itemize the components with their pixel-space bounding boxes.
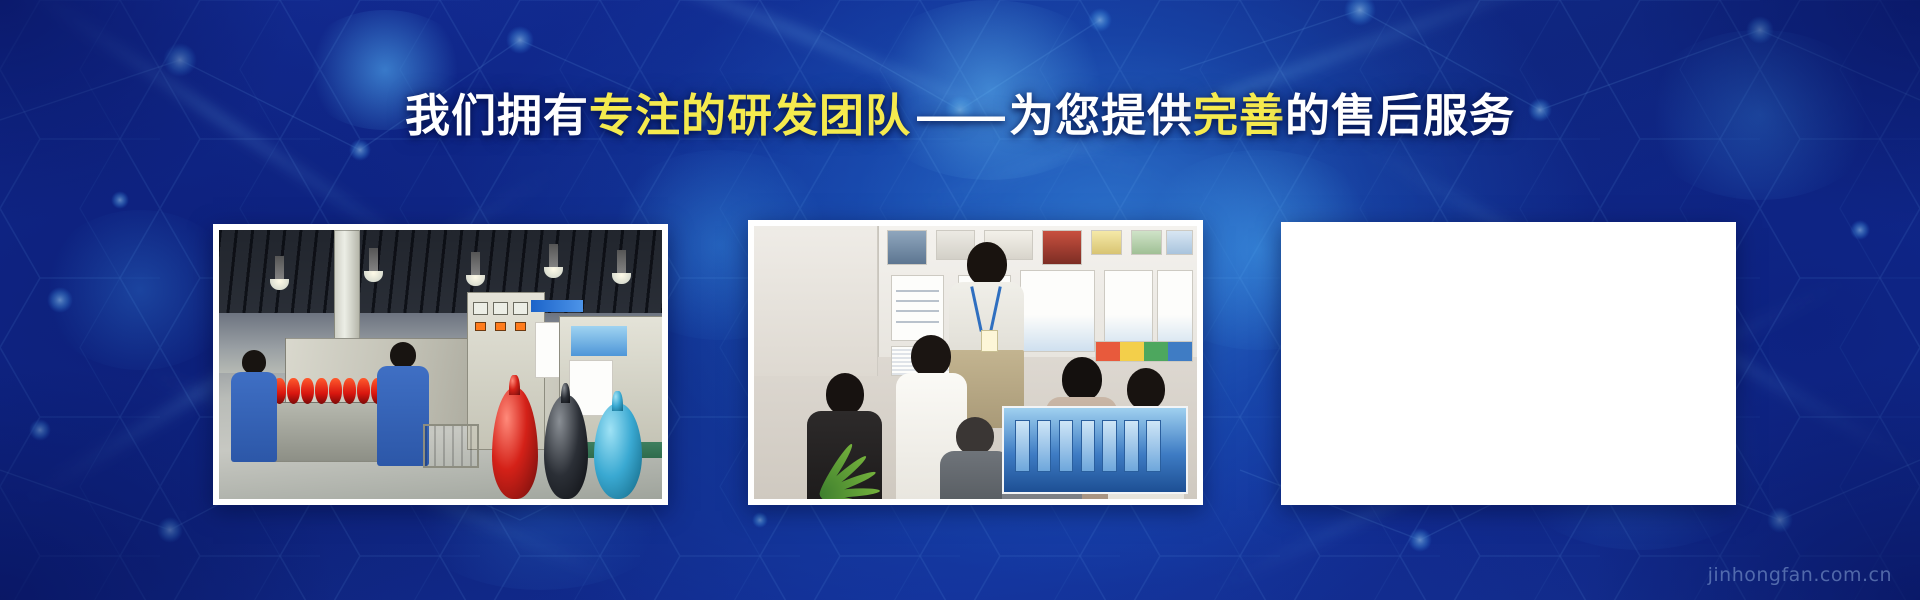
cabinet-gauge bbox=[513, 302, 528, 315]
cabinet-indicator bbox=[495, 322, 506, 331]
ceiling-lamp bbox=[275, 256, 284, 282]
board-photo-thumb bbox=[1166, 230, 1193, 255]
exhaust-duct bbox=[334, 230, 360, 348]
cabinet-blue-label bbox=[531, 300, 583, 312]
ceiling-lamp bbox=[549, 244, 558, 270]
headline-segment-1: 我们拥有 bbox=[405, 90, 589, 141]
ceiling-lamp bbox=[369, 248, 378, 274]
factory-ceiling bbox=[219, 230, 662, 321]
board-photo-thumb bbox=[887, 230, 927, 265]
photo-team-meeting-image bbox=[754, 226, 1197, 499]
board-photo-thumb bbox=[1042, 230, 1082, 265]
cabinet-gauge bbox=[493, 302, 508, 315]
photo-equipment-collage-image bbox=[1287, 228, 1730, 499]
banner-background: 我们拥有专注的研发团队——为您提供完善的售后服务 bbox=[0, 0, 1920, 600]
headline-segment-5: 完善 bbox=[1193, 90, 1285, 141]
cabinet-gauge bbox=[473, 302, 488, 315]
ceiling-lamp bbox=[617, 250, 626, 276]
foreground-plant bbox=[767, 406, 873, 499]
headline-segment-6: 的售后服务 bbox=[1285, 90, 1515, 141]
board-photo-thumb bbox=[1091, 230, 1122, 255]
vase-blue bbox=[594, 403, 642, 499]
cabinet-indicator bbox=[515, 322, 526, 331]
technical-drawing-poster bbox=[1104, 270, 1153, 352]
banner-headline: 我们拥有专注的研发团队——为您提供完善的售后服务 bbox=[0, 88, 1920, 144]
site-watermark: jinhongfan.com.cn bbox=[1708, 564, 1892, 586]
photo-card-equipment-collage[interactable] bbox=[1281, 222, 1736, 505]
photo-card-team-meeting[interactable] bbox=[748, 220, 1203, 505]
technical-drawing-poster bbox=[1020, 270, 1095, 352]
person-seated-center-front bbox=[940, 417, 1011, 499]
headline-dash: —— bbox=[911, 90, 1009, 141]
photo-card-production-line[interactable] bbox=[213, 224, 668, 505]
plastic-crate bbox=[423, 424, 479, 468]
headline-segment-4: 为您提供 bbox=[1009, 90, 1193, 141]
photo-production-line-image bbox=[219, 230, 662, 499]
meeting-room-wall bbox=[754, 226, 878, 376]
ceiling-lamp bbox=[471, 252, 480, 278]
cabinet-indicator bbox=[475, 322, 486, 331]
headline-segment-2: 专注的研发团队 bbox=[589, 90, 911, 141]
vase-dark bbox=[544, 395, 588, 499]
certificate-poster bbox=[891, 275, 944, 341]
worker-center bbox=[377, 342, 429, 466]
board-photo-thumb bbox=[1131, 230, 1162, 255]
right-machine-label bbox=[571, 326, 627, 356]
machine-photo-inset bbox=[1002, 406, 1188, 493]
glass-vases-overlay bbox=[486, 377, 656, 499]
id-badge bbox=[981, 330, 998, 352]
technical-drawing-poster bbox=[1157, 270, 1192, 352]
worker-left bbox=[231, 350, 277, 462]
vase-red bbox=[492, 387, 538, 499]
